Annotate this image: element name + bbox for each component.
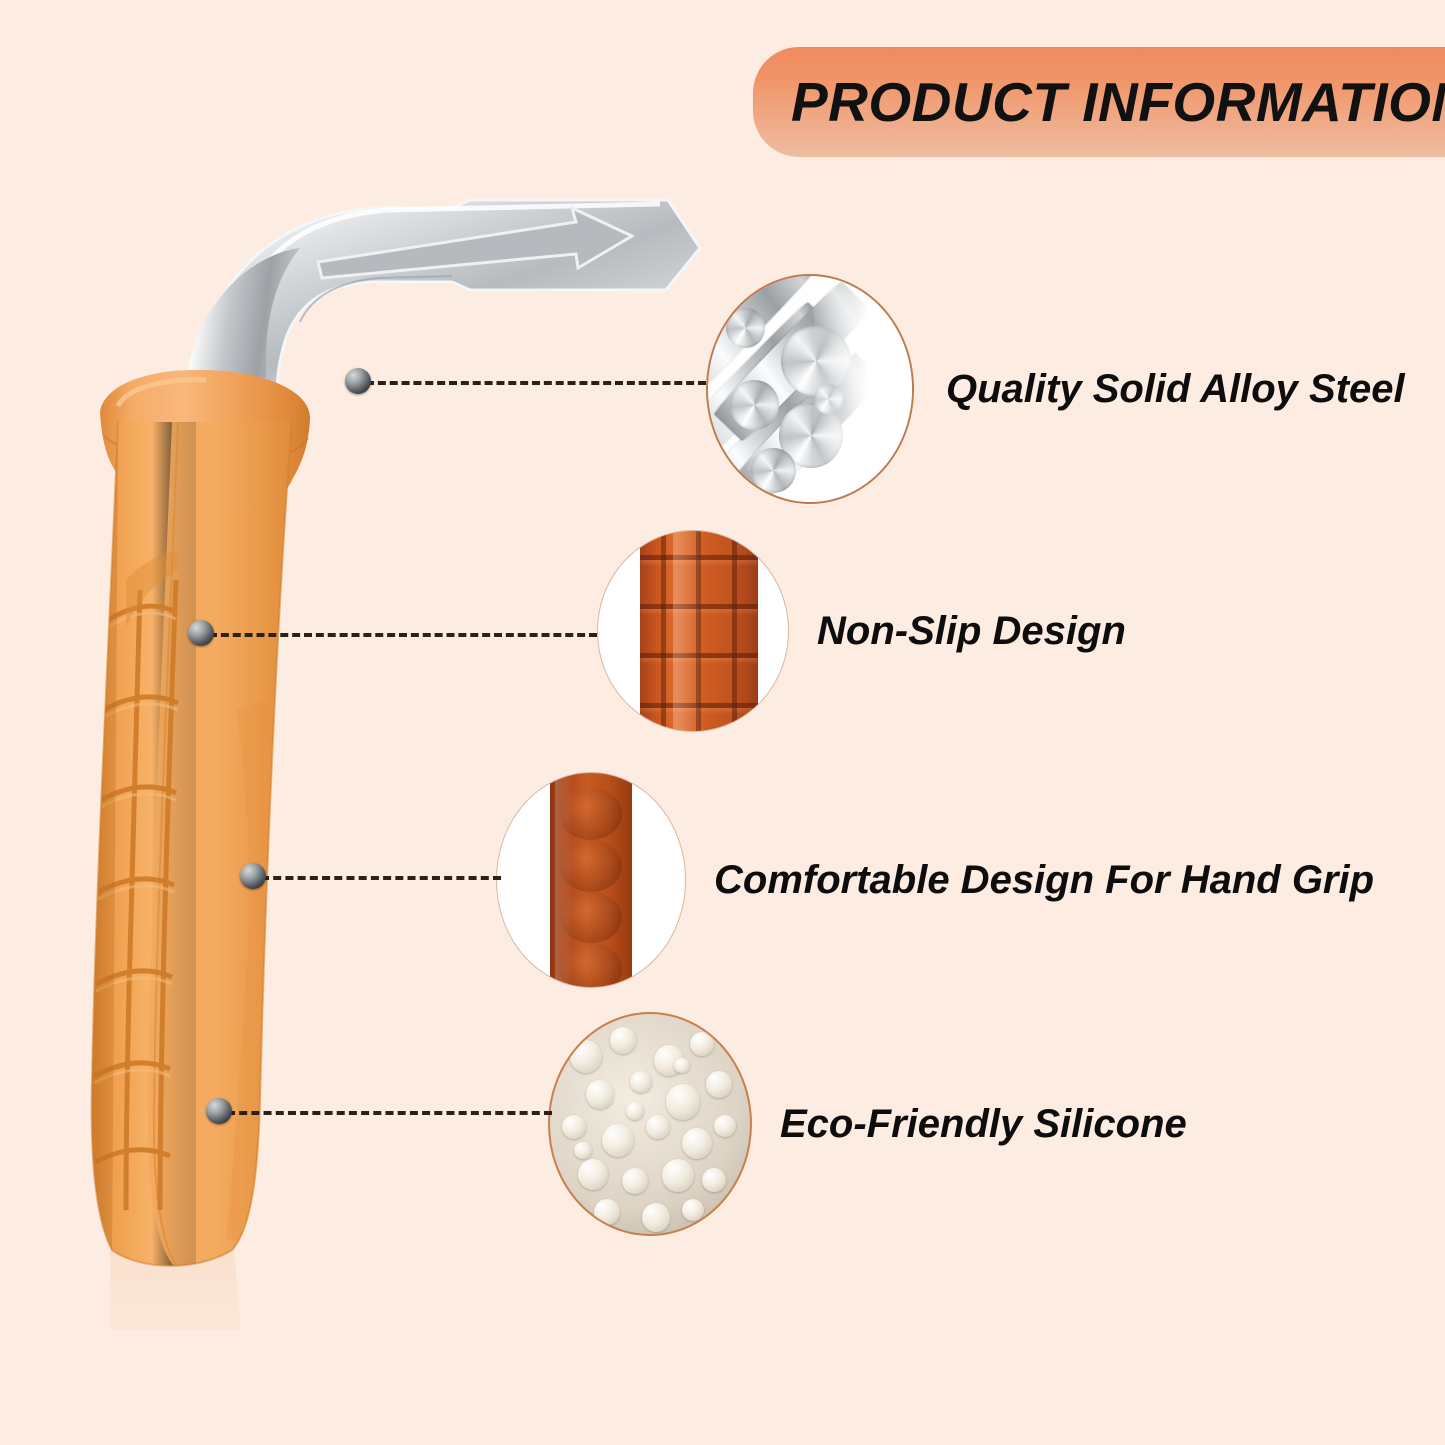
- leader-line-silicone: [227, 1111, 552, 1115]
- callout-dot-non-slip[interactable]: [188, 620, 214, 646]
- page-title: PRODUCT INFORMATION: [791, 75, 1445, 130]
- feature-item-alloy-steel[interactable]: Quality Solid Alloy Steel: [706, 274, 1405, 504]
- callout-dot-silicone[interactable]: [206, 1098, 232, 1124]
- leader-line-alloy-steel: [366, 381, 706, 385]
- callout-dot-alloy-steel[interactable]: [345, 368, 371, 394]
- header-banner: PRODUCT INFORMATION: [753, 47, 1445, 157]
- feature-label-silicone: Eco-Friendly Silicone: [780, 1104, 1187, 1144]
- callout-dot-hand-grip[interactable]: [240, 863, 266, 889]
- leader-line-hand-grip: [261, 876, 501, 880]
- feature-label-hand-grip: Comfortable Design For Hand Grip: [714, 860, 1374, 900]
- product-illustration: [0, 150, 720, 1330]
- leader-line-non-slip: [209, 633, 597, 637]
- steel-rods-photo: [706, 274, 914, 504]
- feature-label-non-slip: Non-Slip Design: [817, 611, 1126, 651]
- handle-body: [88, 414, 300, 1280]
- product-information-infographic: PRODUCT INFORMATION: [0, 0, 1445, 1445]
- feature-label-alloy-steel: Quality Solid Alloy Steel: [946, 369, 1405, 409]
